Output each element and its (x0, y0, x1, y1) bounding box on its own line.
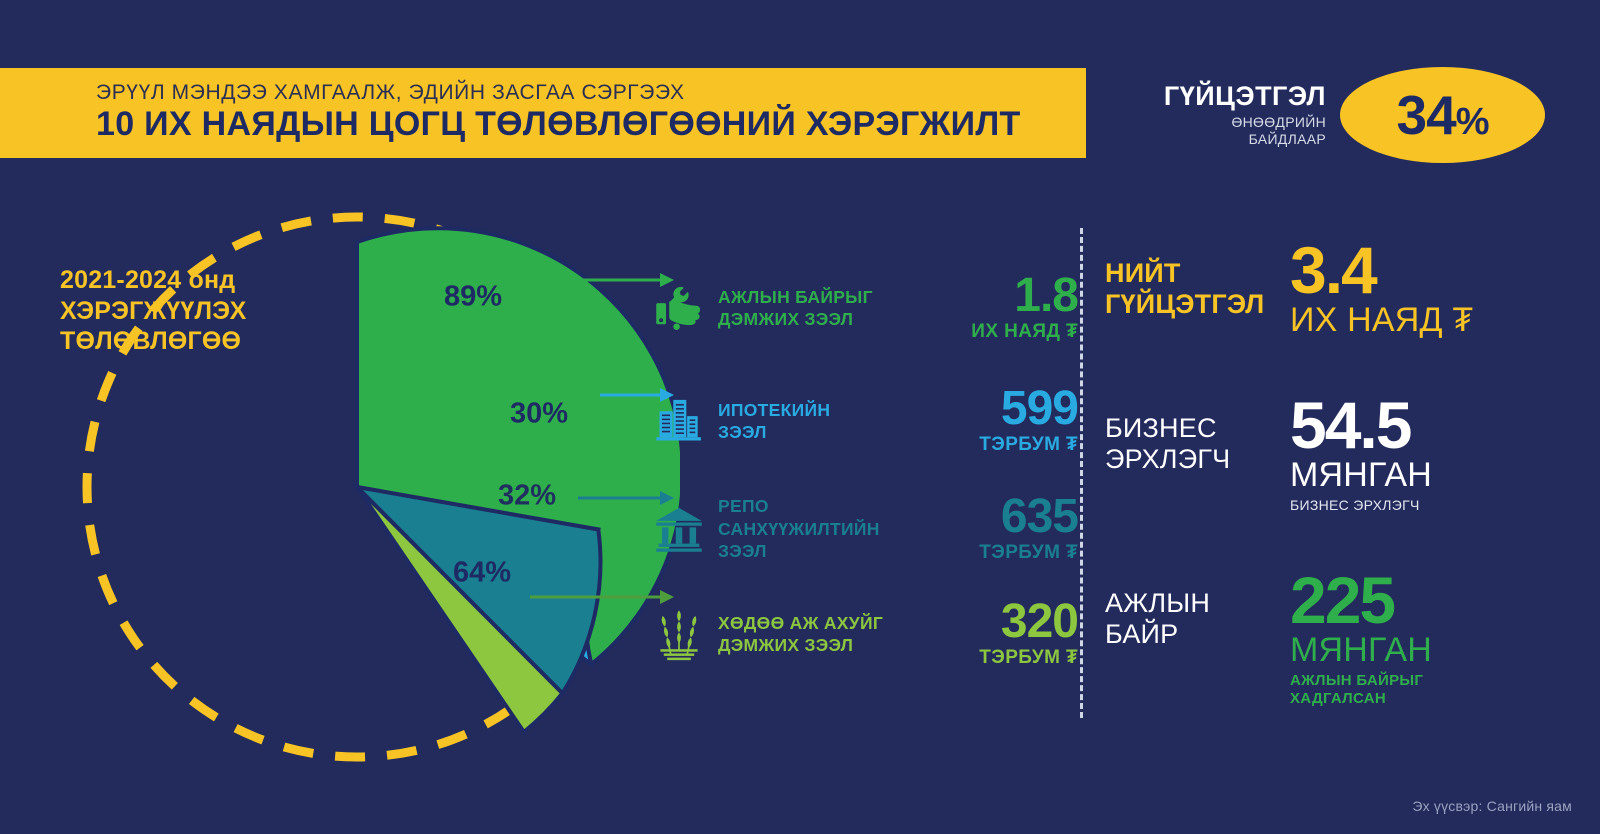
performance-value-percent-sign: % (1456, 101, 1489, 143)
stat-total-performance-key-line2: ГҮЙЦЭТГЭЛ (1105, 289, 1290, 320)
pie-center-caption: 2021-2024 онд ХЭРЭГЖҮҮЛЭХ ТӨЛӨВЛӨГӨӨ (60, 265, 350, 357)
performance-note: ӨНӨӨДРИЙН БАЙДЛААР (1120, 114, 1326, 148)
legend-label-repo-line2: САНХҮҮЖИЛТИЙН (718, 518, 918, 540)
stat-total-performance-unit: ИХ НАЯД ₮ (1290, 303, 1600, 339)
performance-badge: ГҮЙЦЭТГЭЛ ӨНӨӨДРИЙН БАЙДЛААР 34% (1120, 66, 1590, 164)
legend-value-jobs: 1.8 ИХ НАЯД ₮ (918, 273, 1078, 344)
stat-jobs-unit: МЯНГАН (1290, 633, 1600, 669)
legend-label-jobs-line1: АЖЛЫН БАЙРЫГ (718, 286, 918, 308)
performance-value-number: 34 (1397, 84, 1456, 146)
legend-label-agriculture: ХӨДӨӨ АЖ АХУЙГ ДЭМЖИХ ЗЭЭЛ (718, 612, 918, 657)
stat-jobs-key-line2: БАЙР (1105, 619, 1290, 650)
stat-total-performance-key: НИЙТ ГҮЙЦЭТГЭЛ (1105, 240, 1290, 321)
legend-item-repo[interactable]: РЕПО САНХҮҮЖИЛТИЙН ЗЭЭЛ 635 ТЭРБУМ ₮ (648, 481, 918, 577)
source-note: Эх үүсвэр: Сангийн яам (1412, 798, 1572, 814)
legend-unit-mortgage: ТЭРБУМ ₮ (918, 434, 1078, 456)
stat-business-owners-sub: БИЗНЕС ЭРХЛЭГЧ (1290, 497, 1600, 514)
stat-jobs-value: 225 МЯНГАН АЖЛЫН БАЙРЫГ ХАДГАЛСАН (1290, 570, 1600, 708)
performance-note-line2: БАЙДЛААР (1120, 131, 1326, 148)
legend-item-jobs[interactable]: АЖЛЫН БАЙРЫГ ДЭМЖИХ ЗЭЭЛ 1.8 ИХ НАЯД ₮ (648, 260, 918, 356)
legend-value-repo: 635 ТЭРБУМ ₮ (918, 494, 1078, 565)
stat-business-owners-key-line2: ЭРХЛЭГЧ (1105, 444, 1290, 475)
header-banner: ЭРҮҮЛ МЭНДЭЭ ХАМГААЛЖ, ЭДИЙН ЗАСГАА СЭРГ… (0, 68, 1086, 158)
stat-business-owners-key: БИЗНЕС ЭРХЛЭГЧ (1105, 395, 1290, 476)
banner-subtitle: ЭРҮҮЛ МЭНДЭЭ ХАМГААЛЖ, ЭДИЙН ЗАСГАА СЭРГ… (96, 82, 1086, 104)
legend-label-repo: РЕПО САНХҮҮЖИЛТИЙН ЗЭЭЛ (718, 495, 918, 562)
legend-value-agriculture: 320 ТЭРБУМ ₮ (918, 599, 1078, 670)
legend-item-agriculture[interactable]: ХӨДӨӨ АЖ АХУЙГ ДЭМЖИХ ЗЭЭЛ 320 ТЭРБУМ ₮ (648, 586, 918, 682)
stat-jobs-sub-line1: АЖЛЫН БАЙРЫГ (1290, 672, 1600, 690)
performance-text-block: ГҮЙЦЭТГЭЛ ӨНӨӨДРИЙН БАЙДЛААР (1120, 82, 1340, 149)
pie-caption-line3: ТӨЛӨВЛӨГӨӨ (60, 326, 350, 357)
stat-business-owners-big: 54.5 (1290, 395, 1600, 456)
hand-wrench-icon (648, 282, 710, 334)
performance-label: ГҮЙЦЭТГЭЛ (1120, 82, 1326, 110)
pie-label-agriculture: 64% (453, 557, 511, 589)
legend-item-mortgage[interactable]: ИПОТЕКИЙН ЗЭЭЛ 599 ТЭРБУМ ₮ (648, 373, 918, 469)
stat-business-owners: БИЗНЕС ЭРХЛЭГЧ 54.5 МЯНГАН БИЗНЕС ЭРХЛЭГ… (1105, 395, 1600, 514)
legend-label-mortgage: ИПОТЕКИЙН ЗЭЭЛ (718, 399, 918, 444)
legend-label-agriculture-line2: ДЭМЖИХ ЗЭЭЛ (718, 634, 918, 656)
wheat-icon (648, 607, 710, 661)
stat-jobs-key-line1: АЖЛЫН (1105, 588, 1290, 619)
legend-label-mortgage-line2: ЗЭЭЛ (718, 421, 918, 443)
legend-label-jobs: АЖЛЫН БАЙРЫГ ДЭМЖИХ ЗЭЭЛ (718, 286, 918, 331)
legend-label-agriculture-line1: ХӨДӨӨ АЖ АХУЙГ (718, 612, 918, 634)
stat-business-owners-unit: МЯНГАН (1290, 458, 1600, 494)
stat-total-performance-key-line1: НИЙТ (1105, 258, 1290, 289)
pie-label-jobs: 89% (444, 281, 502, 313)
vertical-dashed-divider (1080, 228, 1083, 718)
performance-value: 34% (1397, 88, 1489, 143)
stat-total-performance-big: 3.4 (1290, 240, 1600, 301)
legend-label-jobs-line2: ДЭМЖИХ ЗЭЭЛ (718, 308, 918, 330)
stat-total-performance-value: 3.4 ИХ НАЯД ₮ (1290, 240, 1600, 338)
stat-business-owners-key-line1: БИЗНЕС (1105, 413, 1290, 444)
stat-jobs-key: АЖЛЫН БАЙР (1105, 570, 1290, 651)
legend-unit-jobs: ИХ НАЯД ₮ (918, 321, 1078, 343)
pie-label-repo: 32% (498, 480, 556, 512)
legend-amount-repo: 635 (918, 494, 1078, 540)
stat-business-owners-value: 54.5 МЯНГАН БИЗНЕС ЭРХЛЭГЧ (1290, 395, 1600, 514)
performance-value-ellipse: 34% (1340, 67, 1545, 163)
legend-value-mortgage: 599 ТЭРБУМ ₮ (918, 386, 1078, 457)
infographic-canvas: ЭРҮҮЛ МЭНДЭЭ ХАМГААЛЖ, ЭДИЙН ЗАСГАА СЭРГ… (0, 0, 1600, 834)
legend-amount-jobs: 1.8 (918, 273, 1078, 319)
legend-label-repo-line3: ЗЭЭЛ (718, 540, 918, 562)
bank-icon (648, 503, 710, 555)
stat-total-performance: НИЙТ ГҮЙЦЭТГЭЛ 3.4 ИХ НАЯД ₮ (1105, 240, 1600, 338)
legend-unit-repo: ТЭРБУМ ₮ (918, 542, 1078, 564)
buildings-icon (648, 395, 710, 447)
performance-note-line1: ӨНӨӨДРИЙН (1120, 114, 1326, 131)
legend-unit-agriculture: ТЭРБУМ ₮ (918, 647, 1078, 669)
pie-caption-line1: 2021-2024 онд (60, 265, 350, 296)
legend-amount-agriculture: 320 (918, 599, 1078, 645)
legend-amount-mortgage: 599 (918, 386, 1078, 432)
banner-title: 10 ИХ НАЯДЫН ЦОГЦ ТӨЛӨВЛӨГӨӨНИЙ ХЭРЭГЖИЛ… (96, 105, 1086, 143)
legend-label-repo-line1: РЕПО (718, 495, 918, 517)
stat-jobs-big: 225 (1290, 570, 1600, 631)
stat-jobs-sub-line2: ХАДГАЛСАН (1290, 690, 1600, 708)
stat-jobs: АЖЛЫН БАЙР 225 МЯНГАН АЖЛЫН БАЙРЫГ ХАДГА… (1105, 570, 1600, 708)
pie-caption-line2: ХЭРЭГЖҮҮЛЭХ (60, 296, 350, 327)
legend-label-mortgage-line1: ИПОТЕКИЙН (718, 399, 918, 421)
pie-label-mortgage: 30% (510, 398, 568, 430)
